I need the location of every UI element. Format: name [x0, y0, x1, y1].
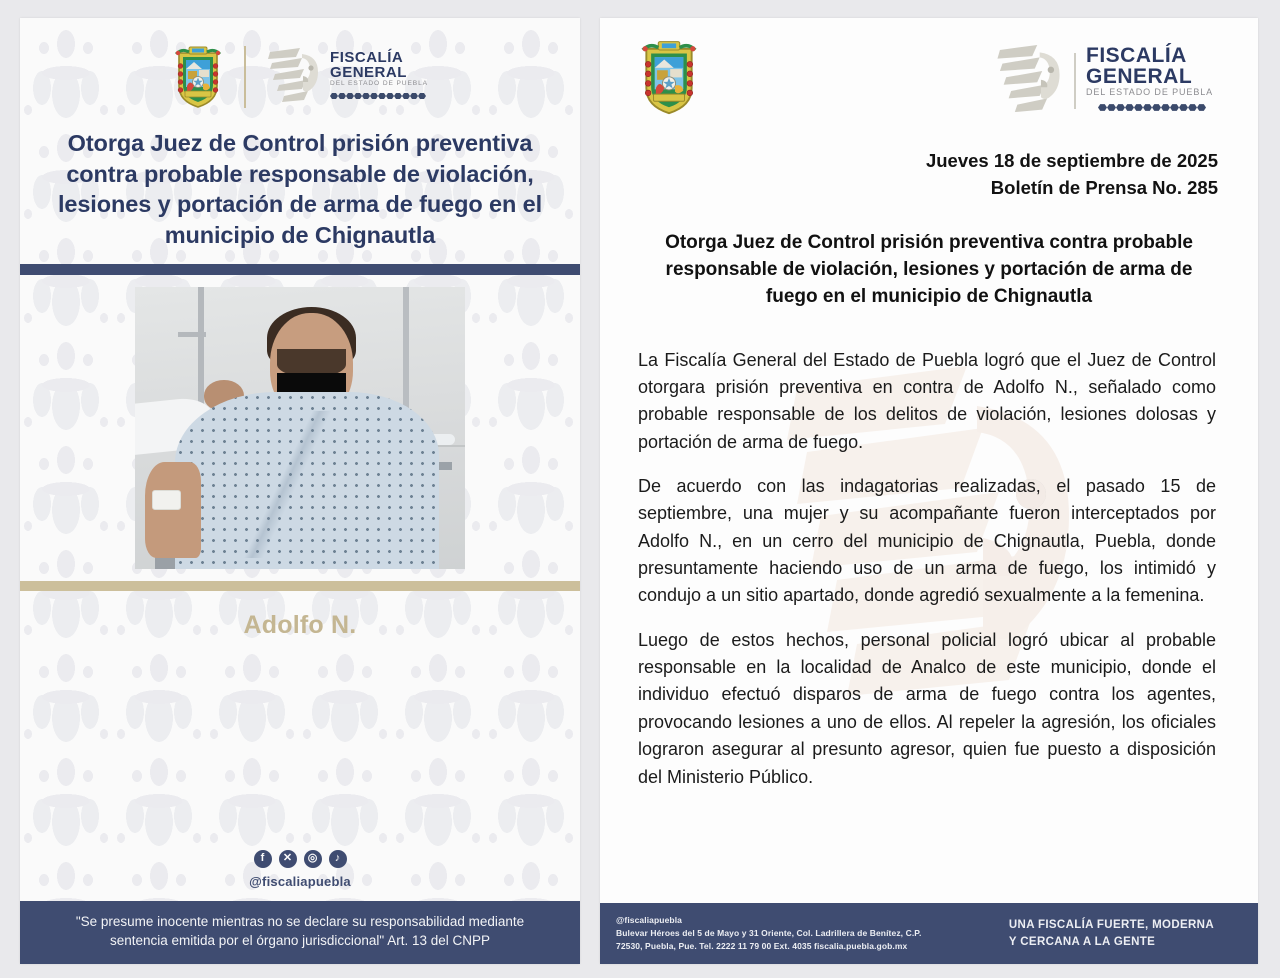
document-spread: FISCALÍA GENERAL DEL ESTADO DE PUEBLA [0, 0, 1280, 978]
bulletin-title: Otorga Juez de Control prisión preventiv… [600, 202, 1258, 311]
presumption-of-innocence-disclaimer: "Se presume inocente mientras no se decl… [20, 901, 580, 964]
footer-tagline-line1: UNA FISCALÍA FUERTE, MODERNA [1009, 917, 1214, 934]
bulletin-body: La Fiscalía General del Estado de Puebla… [600, 311, 1258, 791]
fiscalia-eagle-icon [994, 40, 1068, 122]
gold-divider-rule [20, 581, 580, 591]
press-bulletin-sheet: FISCALÍA GENERAL DEL ESTADO DE PUEBLA [600, 18, 1258, 964]
tiktok-icon[interactable]: ♪ [329, 850, 347, 868]
footer-address-line2: 72530, Puebla, Pue. Tel. 2222 11 79 00 E… [616, 940, 921, 953]
facebook-icon[interactable]: f [254, 850, 272, 868]
fiscalia-decorative-band-icon [1086, 103, 1218, 112]
social-links-block: f ✕ ◎ ♪ @fiscaliapuebla [20, 850, 580, 901]
card-headline: Otorga Juez de Control prisión preventiv… [20, 116, 580, 250]
footer-contact-block: @fiscaliapuebla Bulevar Héroes del 5 de … [616, 914, 921, 953]
logo-divider [1074, 53, 1076, 109]
footer-handle[interactable]: @fiscaliapuebla [616, 914, 921, 927]
fiscalia-line1: FISCALÍA [330, 50, 428, 65]
puebla-coat-of-arms-icon [638, 40, 700, 116]
fiscalia-line2: GENERAL [1086, 66, 1218, 87]
puebla-coat-of-arms-icon [172, 46, 224, 109]
suspect-photo [135, 287, 465, 569]
bulletin-number: Boletín de Prensa No. 285 [600, 175, 1218, 202]
navy-divider-rule [20, 264, 580, 275]
social-handle[interactable]: @fiscaliapuebla [20, 874, 580, 889]
fiscalia-line2: GENERAL [330, 65, 428, 80]
suspect-name: Adolfo N. [20, 591, 580, 640]
bulletin-paragraph: La Fiscalía General del Estado de Puebla… [638, 347, 1216, 456]
sheet-logo-header: FISCALÍA GENERAL DEL ESTADO DE PUEBLA [600, 18, 1258, 122]
fiscalia-line1: FISCALÍA [1086, 45, 1218, 66]
instagram-icon[interactable]: ◎ [304, 850, 322, 868]
bulletin-date: Jueves 18 de septiembre de 2025 [600, 148, 1218, 175]
left-pane: FISCALÍA GENERAL DEL ESTADO DE PUEBLA [0, 0, 600, 978]
iv-bandage [152, 490, 182, 510]
logo-divider [244, 46, 246, 108]
social-card: FISCALÍA GENERAL DEL ESTADO DE PUEBLA [20, 18, 580, 964]
footer-address-line1: Bulevar Héroes del 5 de Mayo y 31 Orient… [616, 927, 921, 940]
x-twitter-icon[interactable]: ✕ [279, 850, 297, 868]
fiscalia-logo-lockup: FISCALÍA GENERAL DEL ESTADO DE PUEBLA [994, 40, 1218, 122]
footer-tagline: UNA FISCALÍA FUERTE, MODERNA Y CERCANA A… [1009, 917, 1236, 950]
bulletin-footer: @fiscaliapuebla Bulevar Héroes del 5 de … [600, 903, 1258, 964]
bulletin-date-block: Jueves 18 de septiembre de 2025 Boletín … [600, 122, 1258, 202]
footer-tagline-line2: Y CERCANA A LA GENTE [1009, 934, 1214, 951]
right-pane: FISCALÍA GENERAL DEL ESTADO DE PUEBLA [600, 0, 1280, 978]
fiscalia-line3: DEL ESTADO DE PUEBLA [1086, 87, 1218, 99]
fiscalia-line3: DEL ESTADO DE PUEBLA [330, 80, 428, 89]
bulletin-paragraph: De acuerdo con las indagatorias realizad… [638, 473, 1216, 610]
face-censor-bar [277, 373, 346, 391]
bulletin-paragraph: Luego de estos hechos, personal policial… [638, 627, 1216, 791]
card-logo-header: FISCALÍA GENERAL DEL ESTADO DE PUEBLA [20, 18, 580, 116]
fiscalia-logo-lockup: FISCALÍA GENERAL DEL ESTADO DE PUEBLA [266, 44, 428, 110]
fiscalia-decorative-band-icon [330, 92, 426, 100]
card-photo-container [20, 275, 580, 569]
fiscalia-eagle-icon [266, 44, 324, 110]
